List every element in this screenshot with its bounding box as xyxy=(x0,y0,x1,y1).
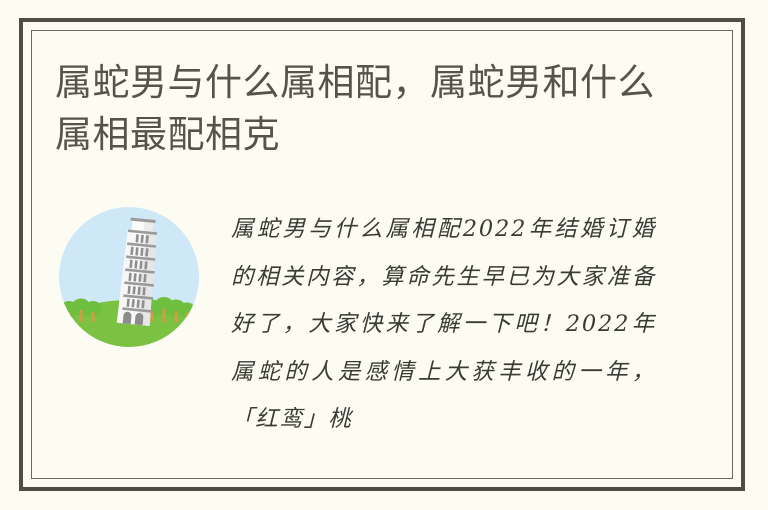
page-title: 属蛇男与什么属相配，属蛇男和什么属相最配相克 xyxy=(55,57,655,161)
leaning-tower-of-pisa-icon xyxy=(56,204,202,350)
article-body-text: 属蛇男与什么属相配2022年结婚订婚的相关内容，算命先生早已为大家准备好了，大家… xyxy=(231,206,656,444)
article-page: 属蛇男与什么属相配，属蛇男和什么属相最配相克 xyxy=(0,0,768,510)
article-content: 属蛇男与什么属相配2022年结婚订婚的相关内容，算命先生早已为大家准备好了，大家… xyxy=(56,200,696,450)
